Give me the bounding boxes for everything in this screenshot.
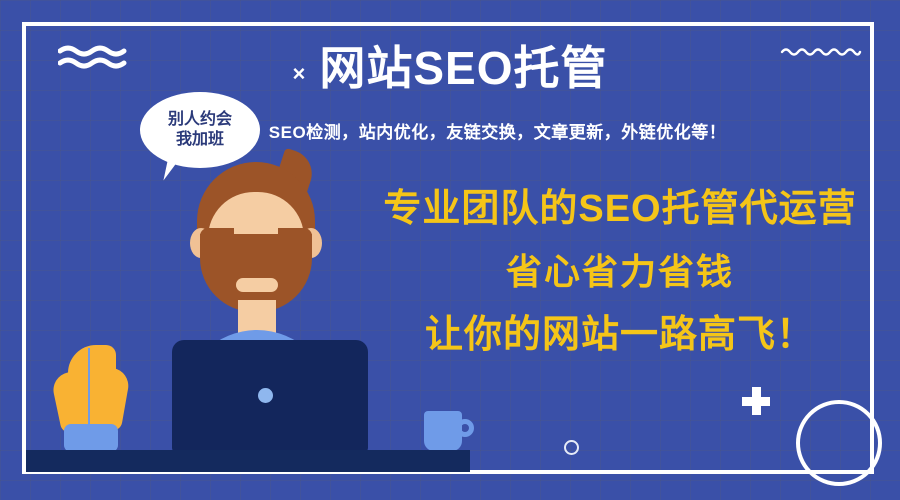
laptop-logo-icon — [258, 388, 273, 403]
headline-3: 让你的网站一路高飞！ — [370, 316, 870, 354]
plant-leaf-center — [68, 345, 116, 431]
corner-circle-icon — [796, 400, 882, 486]
close-icon: × — [292, 63, 305, 85]
headline-1: 专业团队的SEO托管代运营 — [370, 190, 870, 228]
speech-bubble-line-1: 别人约会 — [168, 110, 232, 130]
desk — [26, 450, 470, 472]
headline-2: 省心省力省钱 — [370, 254, 870, 290]
circle-outline-icon — [564, 440, 579, 455]
speech-bubble-line-2: 我加班 — [176, 130, 224, 150]
plant-vein — [88, 348, 90, 428]
banner-subtitle: 含：SEO检测，站内优化，友链交换，文章更新，外链优化等！ — [0, 118, 900, 143]
mouth — [236, 278, 278, 292]
seo-hosting-banner: × 网站SEO托管 含：SEO检测，站内优化，友链交换，文章更新，外链优化等！ … — [0, 0, 900, 500]
plant-pot — [64, 424, 118, 452]
headline-block: 专业团队的SEO托管代运营 省心省力省钱 让你的网站一路高飞！ — [370, 190, 870, 354]
plus-icon — [742, 387, 770, 415]
banner-title-row: × 网站SEO托管 — [0, 44, 900, 92]
page-title: 网站SEO托管 — [319, 44, 607, 92]
coffee-mug — [424, 411, 462, 451]
